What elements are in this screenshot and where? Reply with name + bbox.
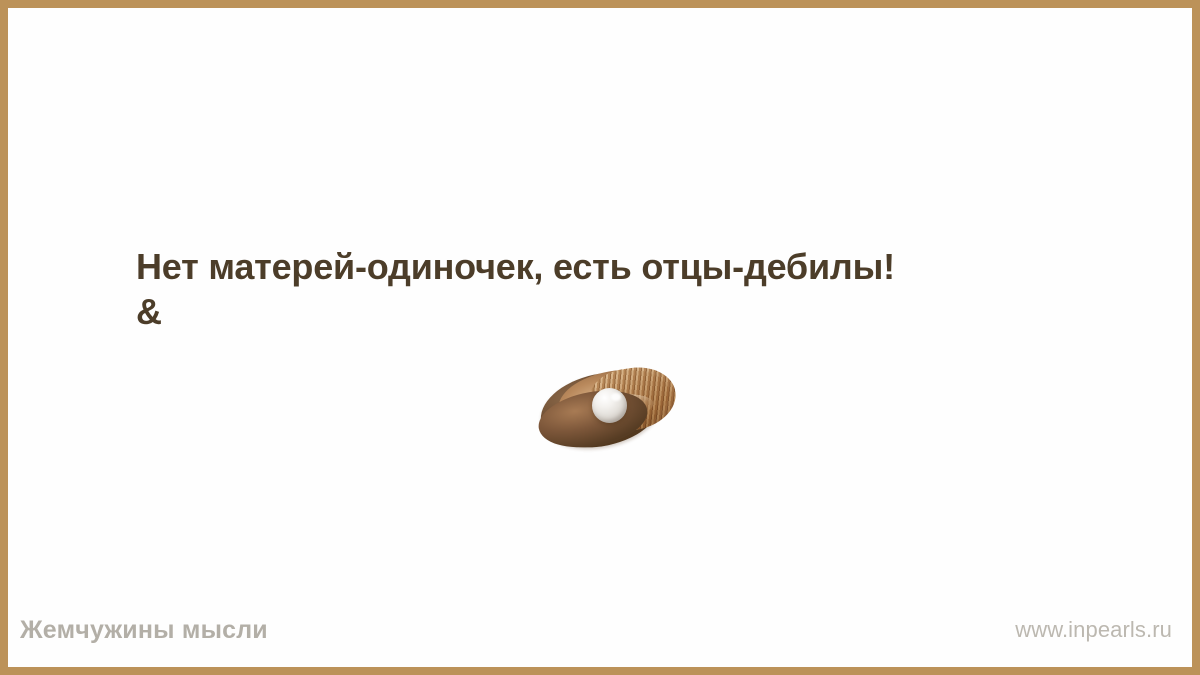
pearl-highlight [611, 393, 621, 401]
site-url-label[interactable]: www.inpearls.ru [1015, 617, 1172, 643]
quote-text: Нет матерей-одиночек, есть отцы-дебилы! … [136, 244, 1086, 334]
pearl-shell-illustration [538, 366, 680, 450]
site-name-label: Жемчужины мысли [20, 616, 268, 645]
shell-graphic [538, 366, 680, 450]
pearl-icon [592, 388, 627, 423]
quote-block: Нет матерей-одиночек, есть отцы-дебилы! … [136, 244, 1086, 334]
quote-card: Нет матерей-одиночек, есть отцы-дебилы! … [0, 0, 1200, 675]
